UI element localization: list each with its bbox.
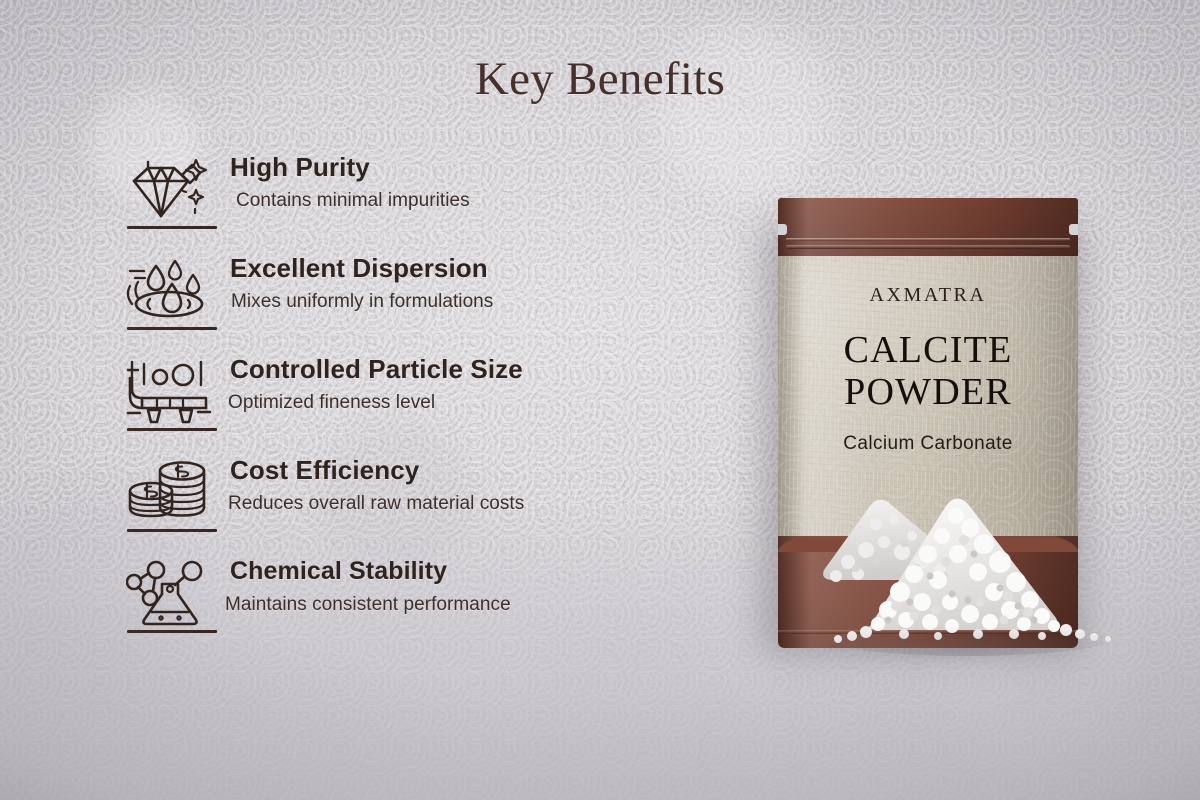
- product-brand: AXMATRA: [778, 284, 1078, 307]
- pouch-zipper-line-bottom: [786, 245, 1070, 249]
- powder-pile: [818, 450, 1178, 660]
- benefit-subtitle: Mixes uniformly in formulations: [231, 287, 493, 317]
- particle-sieve-conveyor-icon: [126, 356, 218, 428]
- benefit-icon-underline: [127, 428, 217, 431]
- benefit-subtitle: Maintains consistent performance: [225, 590, 511, 620]
- pouch-label: AXMATRA CALCITE POWDER Calcium Carbonate: [778, 284, 1078, 455]
- page-title: Key Benefits: [0, 52, 1200, 106]
- benefit-subtitle: Reduces overall raw material costs: [228, 489, 524, 519]
- water-droplets-dispersion-icon: [126, 255, 218, 327]
- benefit-title: Chemical Stability: [230, 554, 511, 588]
- benefit-icon-underline: [127, 226, 217, 229]
- benefit-subtitle: Contains minimal impurities: [236, 186, 470, 216]
- benefit-title: High Purity: [230, 150, 470, 184]
- benefit-text-block: High Purity Contains minimal impurities: [230, 150, 470, 216]
- benefit-title: Controlled Particle Size: [230, 352, 523, 386]
- benefit-item-controlled-particle-size: Controlled Particle Size Optimized finen…: [118, 352, 678, 453]
- product-photo: AXMATRA CALCITE POWDER Calcium Carbonate: [700, 150, 1160, 690]
- flask-molecule-icon: [126, 558, 218, 630]
- benefit-item-cost-efficiency: Cost Efficiency Reduces overall raw mate…: [118, 453, 678, 554]
- benefit-title: Excellent Dispersion: [230, 251, 493, 285]
- benefit-title: Cost Efficiency: [230, 453, 524, 487]
- pouch-zipper-line-top: [786, 238, 1070, 241]
- benefit-text-block: Excellent Dispersion Mixes uniformly in …: [230, 251, 493, 317]
- product-subtitle: Calcium Carbonate: [778, 433, 1078, 455]
- benefit-subtitle: Optimized fineness level: [228, 388, 523, 418]
- benefit-item-excellent-dispersion: Excellent Dispersion Mixes uniformly in …: [118, 251, 678, 352]
- pouch-tear-notch-right: [1069, 224, 1078, 235]
- pouch-tear-notch-left: [778, 224, 787, 235]
- benefit-item-chemical-stability: Chemical Stability Maintains consistent …: [118, 554, 678, 655]
- benefit-text-block: Controlled Particle Size Optimized finen…: [230, 352, 523, 418]
- benefit-text-block: Chemical Stability Maintains consistent …: [230, 554, 511, 620]
- pouch-top-seal: [778, 198, 1078, 256]
- infographic-canvas: Key Benefits: [0, 0, 1200, 800]
- product-name-line-1: CALCITE: [778, 329, 1078, 371]
- benefit-icon-underline: [127, 630, 217, 633]
- benefit-icon-underline: [127, 529, 217, 532]
- benefit-item-high-purity: High Purity Contains minimal impurities: [118, 150, 678, 251]
- diamond-gem-icon: [126, 154, 218, 226]
- product-name-line-2: POWDER: [778, 371, 1078, 413]
- benefit-icon-underline: [127, 327, 217, 330]
- coin-stacks-icon: [126, 457, 218, 529]
- benefits-list: High Purity Contains minimal impurities: [118, 150, 678, 655]
- benefit-text-block: Cost Efficiency Reduces overall raw mate…: [230, 453, 524, 519]
